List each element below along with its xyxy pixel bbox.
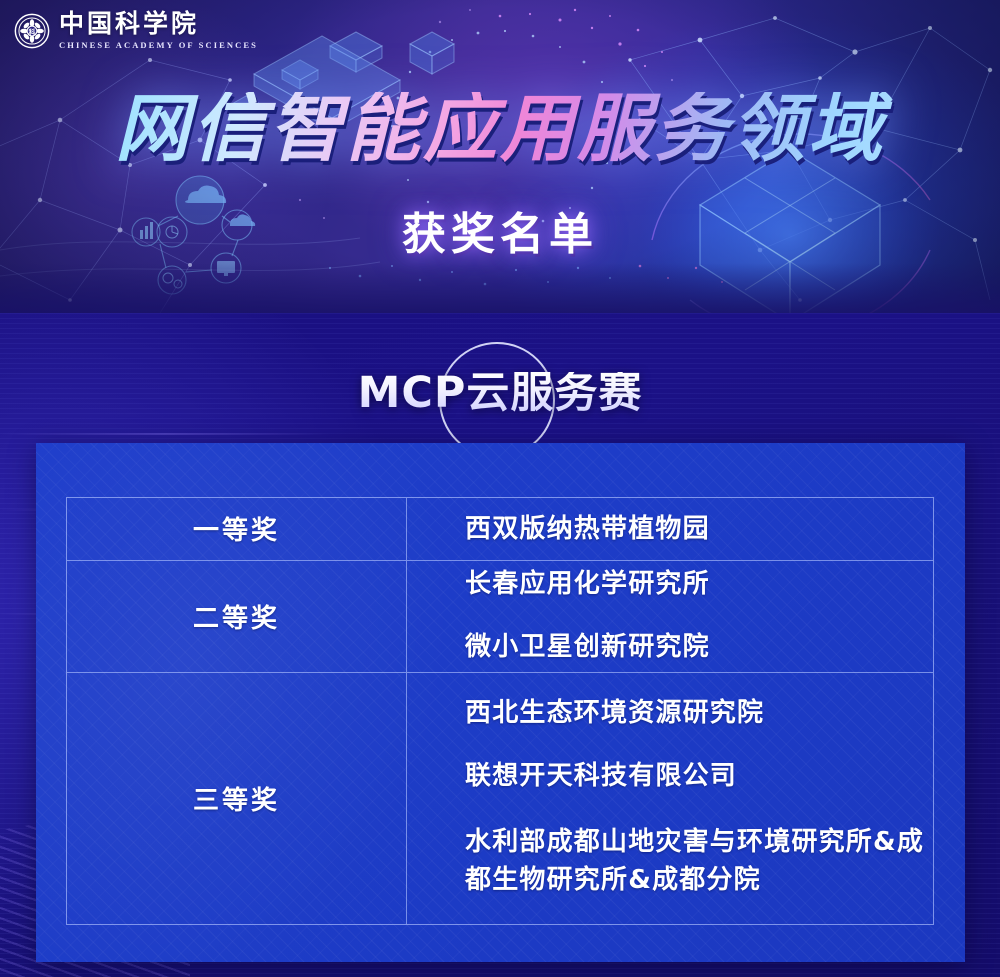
winner-name: 长春应用化学研究所: [465, 568, 933, 601]
logo-english-name: CHINESE ACADEMY OF SCIENCES: [59, 41, 258, 50]
cas-emblem-icon: 科: [14, 13, 50, 49]
winner-name: 水利部成都山地灾害与环境研究所&成都生物研究所&成都分院: [465, 823, 933, 900]
header-bottom-fade: [0, 263, 1000, 313]
winners-cell: 西双版纳热带植物园: [407, 498, 933, 560]
winner-name: 联想开天科技有限公司: [465, 760, 933, 793]
award-level-cell: 一等奖: [67, 498, 407, 560]
table-row: 一等奖 西双版纳热带植物园: [67, 498, 933, 561]
page-subtitle: 获奖名单: [0, 198, 1000, 262]
logo-chinese-name: 中国科学院: [59, 12, 258, 37]
award-level-label: 二等奖: [193, 598, 280, 635]
table-row: 三等奖 西北生态环境资源研究院 联想开天科技有限公司 水利部成都山地灾害与环境研…: [67, 673, 933, 924]
award-list-poster: 科 中国科学院 CHINESE ACADEMY OF SCIENCES 网信智能…: [0, 0, 1000, 977]
winner-name: 西双版纳热带植物园: [465, 513, 933, 546]
award-level-label: 一等奖: [193, 510, 280, 547]
award-level-cell: 三等奖: [67, 673, 407, 924]
winner-name: 西北生态环境资源研究院: [465, 697, 933, 730]
award-panel: 一等奖 西双版纳热带植物园 二等奖 长春应用化学研究所 微小卫星创新研究院 三等…: [36, 443, 965, 962]
cas-logo: 科 中国科学院 CHINESE ACADEMY OF SCIENCES: [14, 12, 258, 50]
table-row: 二等奖 长春应用化学研究所 微小卫星创新研究院: [67, 561, 933, 673]
winner-name: 微小卫星创新研究院: [465, 631, 933, 664]
winners-cell: 西北生态环境资源研究院 联想开天科技有限公司 水利部成都山地灾害与环境研究所&成…: [407, 673, 933, 924]
winners-cell: 长春应用化学研究所 微小卫星创新研究院: [407, 561, 933, 672]
award-table: 一等奖 西双版纳热带植物园 二等奖 长春应用化学研究所 微小卫星创新研究院 三等…: [66, 497, 934, 925]
svg-text:科: 科: [29, 27, 36, 36]
page-title: 网信智能应用服务领域: [0, 92, 1000, 166]
award-level-label: 三等奖: [193, 780, 280, 817]
poster-header: 科 中国科学院 CHINESE ACADEMY OF SCIENCES 网信智能…: [0, 0, 1000, 313]
section-title: MCP云服务赛: [0, 372, 1000, 415]
award-level-cell: 二等奖: [67, 561, 407, 672]
